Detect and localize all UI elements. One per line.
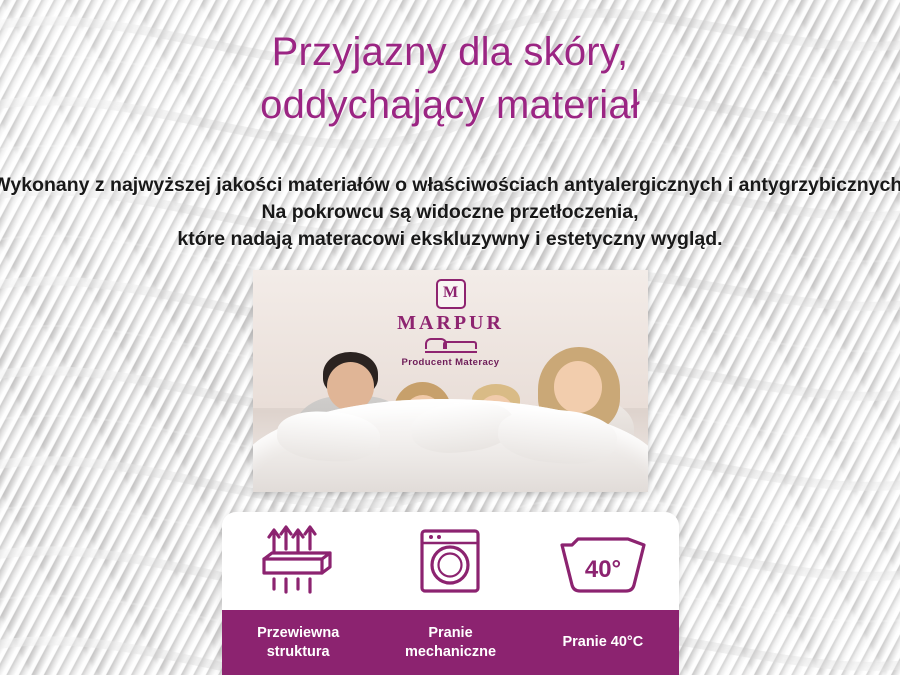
- description-line-3: które nadają materacowi ekskluzywny i es…: [0, 226, 900, 253]
- brand-tagline: Producent Materacy: [356, 357, 546, 368]
- headline-line-2: oddychający materiał: [0, 79, 900, 132]
- feature-icons-row: 40°: [222, 512, 679, 610]
- feature-label-3-line1: Pranie 40°C: [562, 633, 643, 652]
- feature-icon-cell-1: [222, 512, 374, 610]
- brand-name: MARPUR: [356, 312, 546, 335]
- machine-wash-icon: [414, 525, 486, 597]
- mother-head: [554, 361, 602, 413]
- family-photo: M MARPUR Producent Materacy: [253, 270, 648, 492]
- feature-icon-cell-3: 40°: [527, 512, 679, 610]
- description-line-1: Wykonany z najwyższej jakości materiałów…: [0, 172, 900, 199]
- description-line-2: Na pokrowcu są widoczne przetłoczenia,: [0, 199, 900, 226]
- feature-label-3: Pranie 40°C: [527, 610, 679, 675]
- page-headline: Przyjazny dla skóry, oddychający materia…: [0, 26, 900, 132]
- feature-label-2-line2: mechaniczne: [405, 644, 496, 660]
- wash-temperature-label: 40°: [585, 556, 621, 583]
- feature-labels-row: Przewiewna struktura Pranie mechaniczne …: [222, 610, 679, 675]
- feature-label-2-line1: Pranie: [428, 625, 472, 641]
- feature-bar: 40° Przewiewna struktura Pranie mechanic…: [222, 512, 679, 675]
- feature-label-1-line2: struktura: [267, 644, 330, 660]
- feature-label-2: Pranie mechaniczne: [374, 610, 526, 675]
- feature-icon-cell-2: [374, 512, 526, 610]
- headline-line-1: Przyjazny dla skóry,: [272, 30, 629, 74]
- bed-icon: [425, 338, 477, 353]
- wash-40-degrees-icon: 40°: [554, 525, 652, 597]
- description-paragraph: Wykonany z najwyższej jakości materiałów…: [0, 172, 900, 253]
- brand-logo: M MARPUR Producent Materacy: [356, 279, 546, 368]
- feature-label-1-line1: Przewiewna: [257, 625, 339, 641]
- breathable-structure-icon: [252, 525, 344, 597]
- feature-label-1: Przewiewna struktura: [222, 610, 374, 675]
- brand-monogram-icon: M: [436, 279, 466, 309]
